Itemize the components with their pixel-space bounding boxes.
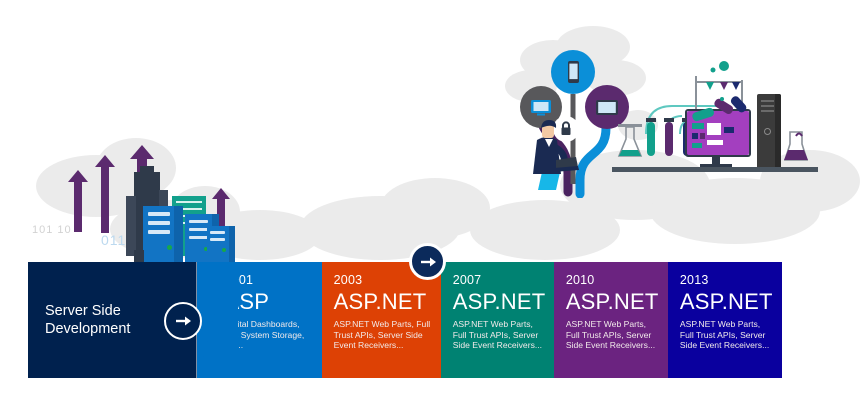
lab-bench-surface <box>612 167 818 172</box>
server-rack-slot <box>210 231 225 234</box>
segment-desc: ASP.NET Web Parts, Full Trust APIs, Serv… <box>680 319 772 351</box>
binary-text-grey: 101 10 <box>32 224 72 236</box>
building-windows <box>176 201 202 203</box>
transition-arrow-badge[interactable] <box>409 243 446 280</box>
segment-tech: ASP.NET <box>453 289 544 315</box>
developer-figure <box>520 110 590 190</box>
intro-arrow-badge[interactable] <box>164 302 202 340</box>
lab-server-tower-shade <box>775 94 781 170</box>
skyscraper-shape <box>140 166 154 178</box>
server-rack-shade <box>229 226 235 262</box>
segment-desc: ASP.NET Web Parts, Full Trust APIs, Serv… <box>453 319 544 351</box>
segment-tech: ASP.NET <box>566 289 658 315</box>
tower-power-button <box>764 128 771 135</box>
server-rack-slot <box>189 236 208 239</box>
segment-year: 2013 <box>680 273 772 287</box>
timeline-bar: Server Side Development 2001 ASP Digital… <box>28 262 782 378</box>
segment-desc: ASP.NET Web Parts, Full Trust APIs, Serv… <box>334 319 431 351</box>
intro-label-line2: Development <box>45 320 130 338</box>
intro-label: Server Side Development <box>45 302 130 338</box>
server-rack-slot <box>148 221 170 225</box>
segment-tech: ASP.NET <box>680 289 772 315</box>
segment-desc: ASP.NET Web Parts, Full Trust APIs, Serv… <box>566 319 658 351</box>
server-rack-shade <box>174 206 183 262</box>
screen-block <box>692 143 702 148</box>
growth-arrow-icon <box>68 170 88 232</box>
server-status-led <box>222 248 226 252</box>
segment-tech: ASP.NET <box>334 289 431 315</box>
screen-block <box>724 127 734 133</box>
timeline-segment-2013[interactable]: 2013 ASP.NET ASP.NET Web Parts, Full Tru… <box>668 262 782 378</box>
beaker-icon <box>782 128 814 170</box>
server-rack-slot <box>148 212 170 216</box>
server-rack-slot <box>210 238 225 241</box>
tilted-test-tubes <box>692 96 748 126</box>
skyscraper-shape <box>126 196 136 256</box>
tower-vent <box>761 110 774 112</box>
infographic-canvas: 101 10 011001 <box>0 0 860 403</box>
growth-arrow-icon <box>95 155 115 233</box>
tower-vent <box>761 105 774 107</box>
screen-block <box>700 133 705 139</box>
screen-block <box>707 140 723 145</box>
intro-label-line1: Server Side <box>45 302 130 320</box>
server-status-led <box>167 245 172 250</box>
tower-vent <box>761 100 774 102</box>
timeline-segment-2007[interactable]: 2007 ASP.NET ASP.NET Web Parts, Full Tru… <box>441 262 554 378</box>
server-rack-slot <box>189 228 208 231</box>
rack-base-ticks <box>134 250 144 262</box>
server-rack-slot <box>189 220 208 223</box>
segment-year: 2007 <box>453 273 544 287</box>
flask-icon <box>614 122 648 168</box>
screen-block <box>692 133 698 139</box>
arrow-right-icon <box>173 311 193 331</box>
arrow-right-icon <box>418 252 438 272</box>
timeline-segment-2010[interactable]: 2010 ASP.NET ASP.NET Web Parts, Full Tru… <box>554 262 668 378</box>
segment-year: 2010 <box>566 273 658 287</box>
server-rack-slot <box>148 230 170 234</box>
